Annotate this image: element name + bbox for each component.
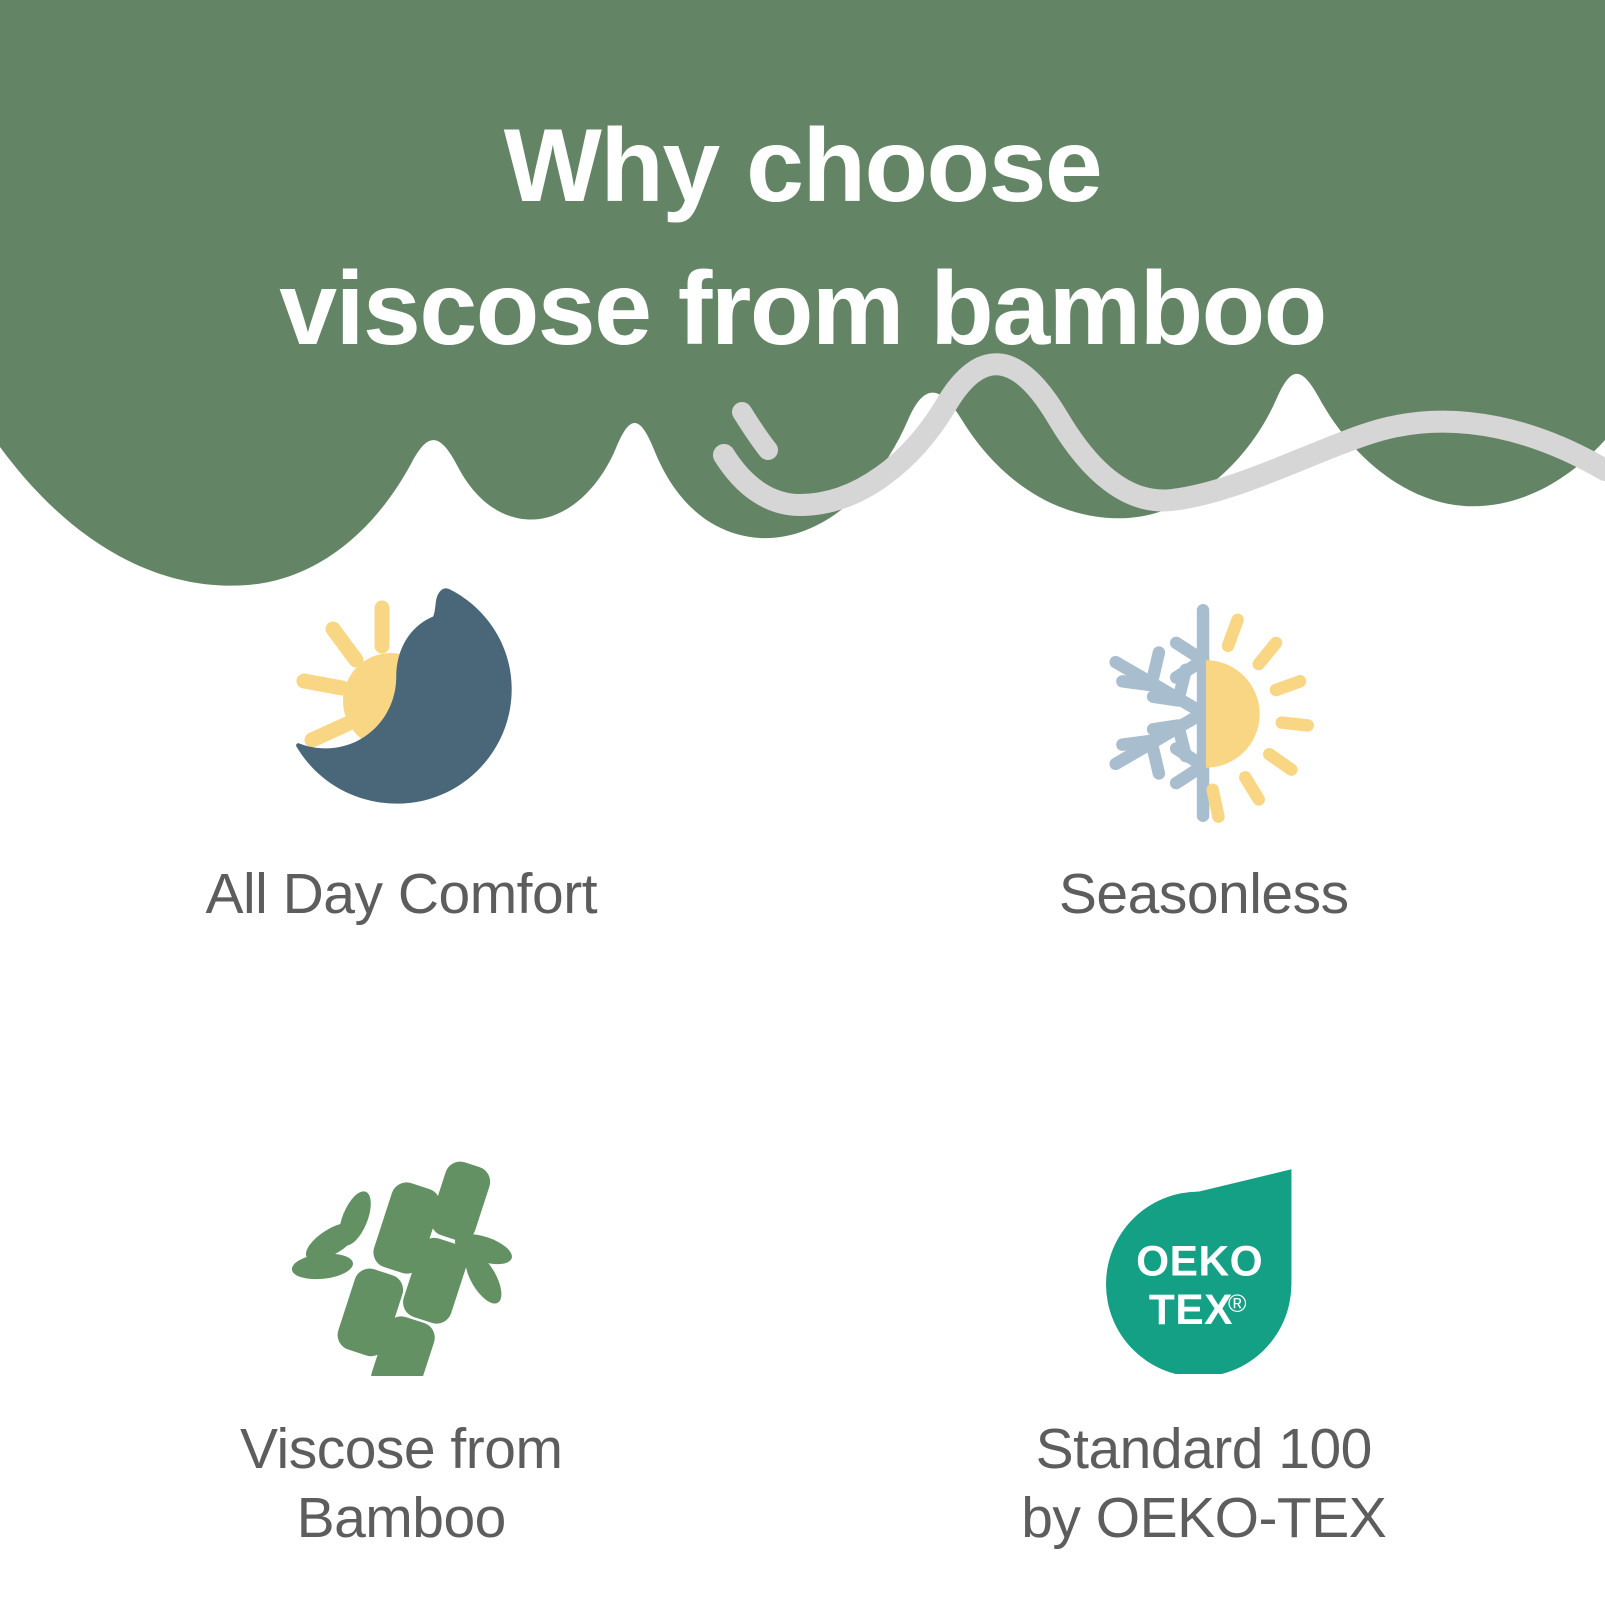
feature-label-all-day-comfort: All Day Comfort [205,860,597,929]
bamboo-icon [286,1146,516,1381]
snowflake-group [1115,610,1202,815]
header-banner: Why choose viscose from bamboo [0,0,1605,600]
oeko-tex-line-2: TEX [1149,1286,1233,1333]
page-title: Why choose viscose from bamboo [0,95,1605,381]
feature-cell-seasonless: Seasonless [803,570,1605,1088]
feature-cell-oeko-tex: OEKO TEX ® Standard 100 by OEKO-TEX [803,1088,1605,1605]
oeko-tex-icon-svg: OEKO TEX ® [1101,1152,1306,1374]
infographic-root: Why choose viscose from bamboo [0,0,1605,1605]
snowflake-sun-icon-svg [1079,593,1329,833]
sun-moon-icon [271,588,531,838]
crescent-moon [296,588,512,803]
oeko-tex-line-1: OEKO [1136,1238,1263,1285]
snowflake-sun-icon [1074,588,1334,838]
page-title-line-1: Why choose [0,95,1605,238]
sun-moon-icon-svg [271,588,531,838]
feature-label-seasonless: Seasonless [1059,860,1349,929]
oeko-tex-registered-mark: ® [1228,1290,1247,1318]
feature-cell-all-day-comfort: All Day Comfort [0,570,803,1088]
half-sun-disc [1206,660,1260,768]
feature-cell-viscose-from-bamboo: Viscose from Bamboo [0,1088,803,1605]
feature-grid: All Day Comfort [0,570,1605,1605]
oeko-tex-icon: OEKO TEX ® [1089,1146,1319,1381]
bamboo-icon-svg [286,1151,516,1376]
feature-label-oeko-tex: Standard 100 by OEKO-TEX [1021,1415,1386,1553]
page-title-line-2: viscose from bamboo [0,238,1605,381]
feature-label-viscose-from-bamboo: Viscose from Bamboo [240,1415,562,1553]
